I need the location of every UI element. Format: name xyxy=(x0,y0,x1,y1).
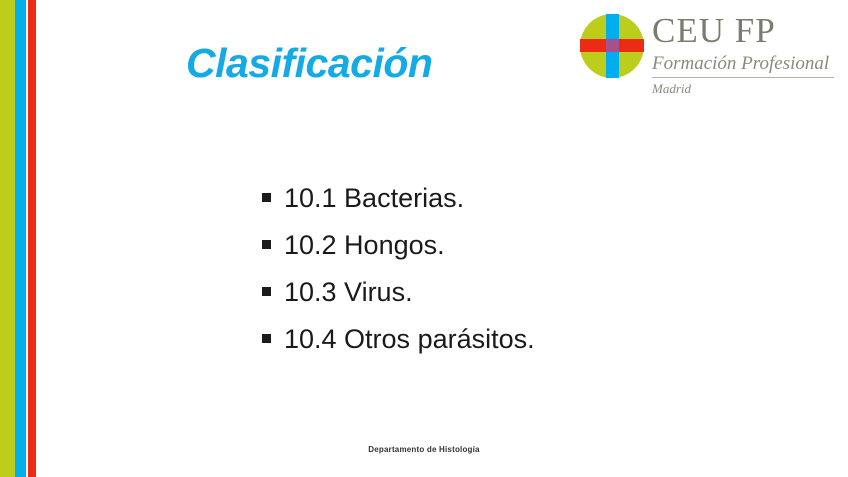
list-item: 10.1 Bacterias. xyxy=(262,185,782,232)
bullet-list: 10.1 Bacterias. 10.2 Hongos. 10.3 Virus.… xyxy=(262,185,782,373)
square-bullet-icon xyxy=(262,193,271,202)
page-title: Clasificación xyxy=(186,42,432,85)
list-item-label: 10.4 Otros parásitos. xyxy=(284,326,535,353)
red-stripe xyxy=(28,0,36,477)
logo-subtitle: Formación Profesional xyxy=(652,53,838,75)
logo-text-block: CEU FP Formación Profesional Madrid xyxy=(652,11,838,97)
square-bullet-icon xyxy=(262,334,271,343)
list-item: 10.3 Virus. xyxy=(262,279,782,326)
logo-center-square-shape xyxy=(606,39,619,52)
list-item-label: 10.2 Hongos. xyxy=(284,232,445,259)
square-bullet-icon xyxy=(262,287,271,296)
list-item-label: 10.3 Virus. xyxy=(284,279,413,306)
list-item: 10.2 Hongos. xyxy=(262,232,782,279)
green-stripe xyxy=(0,0,15,477)
logo-divider xyxy=(652,77,834,78)
square-bullet-icon xyxy=(262,240,271,249)
ceu-cross-circle-icon xyxy=(580,14,644,78)
slide-canvas: Clasificación CEU FP Formación Profesion… xyxy=(0,0,848,477)
slide-footer: Departamento de Histología xyxy=(0,445,848,454)
logo-title: CEU FP xyxy=(652,13,838,48)
list-item: 10.4 Otros parásitos. xyxy=(262,326,782,373)
blue-stripe xyxy=(15,0,26,477)
list-item-label: 10.1 Bacterias. xyxy=(284,185,464,212)
ceu-fp-logo: CEU FP Formación Profesional Madrid xyxy=(580,11,838,103)
logo-city: Madrid xyxy=(652,81,838,97)
